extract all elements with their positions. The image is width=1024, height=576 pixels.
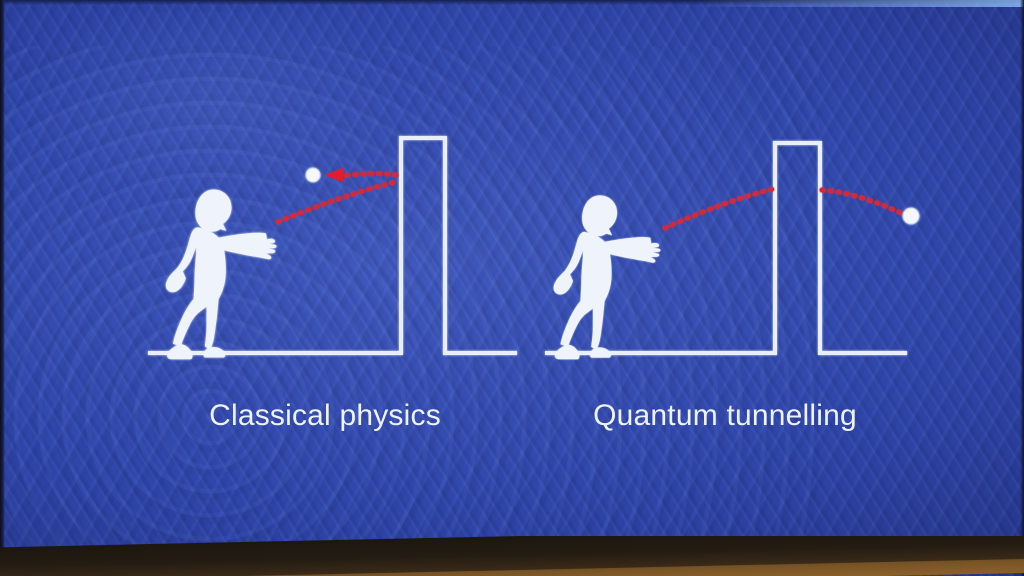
screen-bottom-frame bbox=[0, 536, 1024, 576]
person-throwing-icon-classical bbox=[166, 189, 277, 359]
screen-edge-right bbox=[1020, 0, 1024, 576]
caption-quantum-tunnelling: Quantum tunnelling bbox=[593, 399, 857, 432]
screen-edge-highlight bbox=[694, 0, 1024, 7]
panel-quantum-tunnelling: Quantum tunnelling bbox=[547, 143, 919, 432]
person-throwing-icon-quantum bbox=[554, 195, 661, 359]
panel-classical-physics: Classical physics bbox=[150, 138, 515, 432]
dotted-trajectory-reflected-classical bbox=[325, 168, 396, 182]
dotted-trajectory-transmitted-quantum bbox=[822, 190, 903, 214]
ball-icon-quantum bbox=[903, 208, 919, 224]
screen-edge-left bbox=[0, 0, 5, 576]
physics-diagram: Classical physics Quantum tunnelling bbox=[0, 0, 1024, 576]
arrowhead-left-icon-classical bbox=[325, 168, 343, 182]
dotted-trajectory-incident-quantum bbox=[665, 189, 773, 228]
dotted-trajectory-outgoing-classical bbox=[278, 181, 399, 222]
projected-slide: Classical physics Quantum tunnelling bbox=[0, 0, 1024, 576]
caption-classical-physics: Classical physics bbox=[209, 399, 441, 432]
ball-icon-classical bbox=[306, 168, 320, 182]
